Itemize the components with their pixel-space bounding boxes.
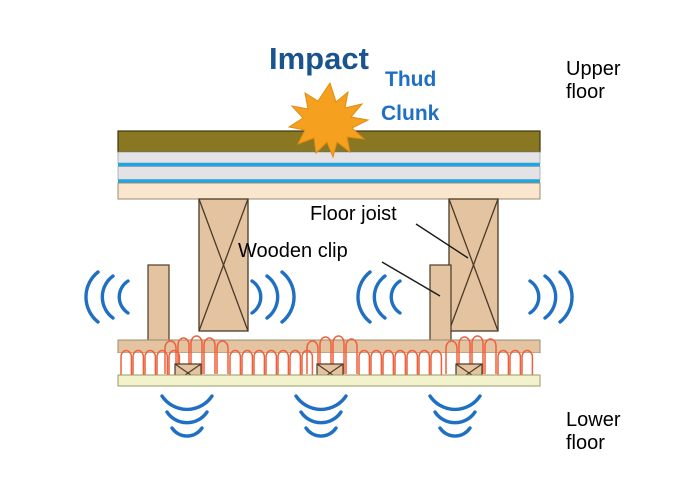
wave-right-inner (358, 272, 400, 322)
clunk-label: Clunk (381, 102, 439, 126)
wave-down-left (162, 396, 212, 436)
wave-down-right (430, 396, 480, 436)
layer-base-slab (118, 375, 540, 386)
upper-floor-label: Upper floor (566, 58, 620, 104)
lower-batten-board (118, 340, 540, 353)
layer-membrane-2 (118, 180, 540, 184)
wooden-clip-label: Wooden clip (238, 240, 348, 263)
wave-down-center (296, 396, 346, 436)
lower-floor-label: Lower floor (566, 409, 620, 455)
wave-right-outer (530, 272, 572, 322)
impact-label: Impact (269, 41, 369, 77)
wave-left-inner (252, 272, 294, 322)
floor-joist-label: Floor joist (310, 203, 397, 226)
layer-screed-lower (118, 167, 540, 180)
right-joist (449, 199, 498, 331)
thud-label: Thud (385, 68, 436, 92)
layer-screed-upper (118, 152, 540, 163)
layer-membrane-1 (118, 163, 540, 167)
wave-left-outer (86, 272, 128, 322)
layer-deck (118, 183, 540, 199)
lower-floor-buildup (118, 336, 540, 386)
diagram-canvas: Impact Thud Clunk Upper floor Lower floo… (0, 0, 700, 500)
left-joist (199, 199, 248, 331)
